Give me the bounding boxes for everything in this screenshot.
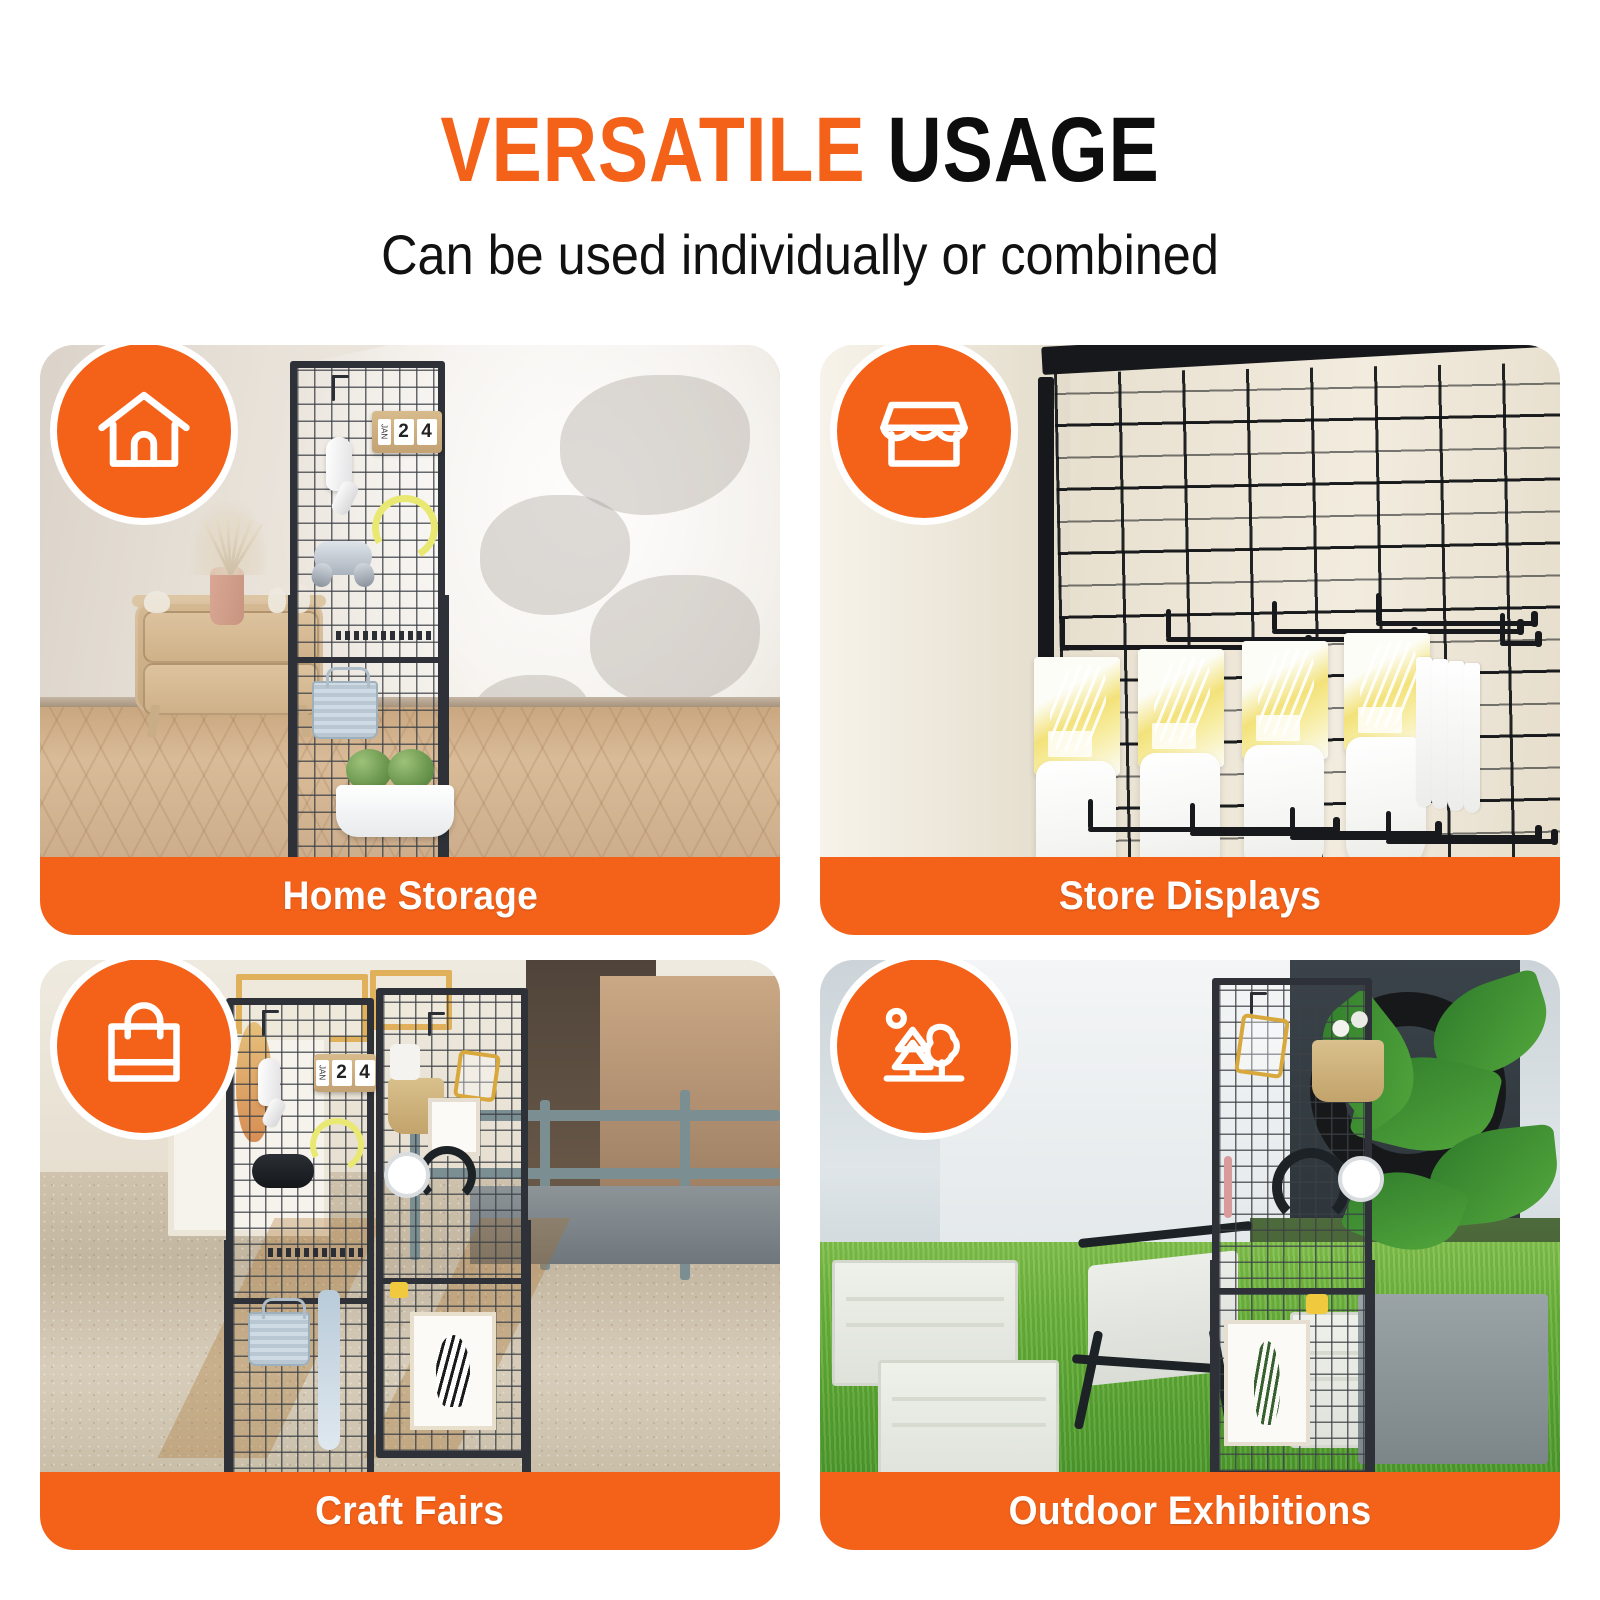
- calendar-day-tens: 2: [332, 1060, 352, 1086]
- planter-box: [336, 785, 454, 837]
- calendar-day-ones: 4: [355, 1060, 375, 1086]
- zebra-art-print: [410, 1312, 496, 1430]
- caption-label: Store Displays: [1059, 874, 1321, 919]
- badge-craft: [50, 960, 238, 1140]
- storefront-icon: [872, 379, 976, 483]
- flip-calendar: JAN 2 4: [314, 1054, 376, 1092]
- tag-yellow: [1306, 1294, 1328, 1314]
- woven-basket: [1312, 1040, 1384, 1102]
- flip-calendar: JAN 2 4: [372, 411, 442, 453]
- rack-leg-right: [440, 595, 449, 885]
- sock-stack: [1448, 661, 1464, 811]
- concrete-planter: [1358, 1294, 1548, 1464]
- title-highlight: VERSATILE: [440, 99, 865, 201]
- calendar-day-tens: 2: [394, 419, 414, 445]
- waterfall-hook: [1500, 641, 1540, 646]
- caption-label: Craft Fairs: [315, 1489, 504, 1534]
- page-title: VERSATILE USAGE: [144, 104, 1456, 196]
- badge-home: [50, 345, 238, 525]
- caption-store-displays: Store Displays: [820, 857, 1560, 935]
- flower-vase: [390, 1044, 420, 1080]
- headphones: [1272, 1148, 1350, 1226]
- zebra-illustration: [436, 1335, 470, 1407]
- desk-clock: [384, 1152, 430, 1198]
- calendar-month: JAN: [316, 1060, 329, 1086]
- grid-crossbar: [1212, 1288, 1372, 1294]
- hanging-lantern: [453, 1049, 501, 1102]
- grid-hook: [332, 375, 335, 401]
- sock-stack: [1464, 663, 1480, 813]
- caption-label: Home Storage: [282, 874, 538, 919]
- calendar-month: JAN: [378, 419, 391, 445]
- shopping-bag-icon: [92, 994, 196, 1098]
- rack-leg-left: [288, 595, 297, 895]
- park-trees-icon: [872, 994, 976, 1098]
- panel-craft-fairs[interactable]: JAN 2 4: [40, 960, 780, 1550]
- panel-outdoor-exhibitions[interactable]: Outdoor Exhibitions: [820, 960, 1560, 1550]
- hook-strip: [268, 1248, 364, 1257]
- panel-store-displays[interactable]: Store Displays: [820, 345, 1560, 935]
- rack-leg-right: [522, 1220, 531, 1490]
- game-controller: [252, 1154, 314, 1188]
- grid-hook: [428, 1012, 431, 1036]
- hanging-basket: [248, 1312, 310, 1366]
- sock-stack: [1416, 657, 1432, 807]
- badge-outdoor: [830, 960, 1018, 1140]
- home-icon: [92, 379, 196, 483]
- waterfall-hook: [1386, 839, 1556, 844]
- flowers: [1316, 1002, 1378, 1046]
- page-subtitle: Can be used individually or combined: [80, 222, 1520, 287]
- fern-art-print: [1224, 1320, 1310, 1446]
- waterfall-hook: [1376, 621, 1536, 626]
- umbrella: [318, 1290, 340, 1450]
- usage-panel-grid: JAN 2 4 Home Storage: [40, 345, 1560, 1550]
- hanging-basket: [312, 681, 378, 739]
- grid-hook: [1250, 992, 1253, 1014]
- sock-stack: [1432, 659, 1448, 809]
- decor-object: [144, 591, 170, 613]
- pampas-grass: [190, 501, 268, 575]
- badge-store: [830, 345, 1018, 525]
- tag-yellow: [390, 1282, 408, 1298]
- hair-dryer: [252, 1058, 308, 1138]
- grid-hook: [262, 1010, 265, 1036]
- hanging-lantern: [1234, 1013, 1290, 1079]
- decor-object: [268, 587, 286, 613]
- rack-leg-right: [1366, 1260, 1375, 1490]
- hook-strip: [336, 631, 434, 640]
- desk-clock: [1338, 1156, 1384, 1202]
- caption-home-storage: Home Storage: [40, 857, 780, 935]
- game-controller: [314, 541, 372, 575]
- caption-label: Outdoor Exhibitions: [1009, 1489, 1372, 1534]
- fern-illustration: [1254, 1341, 1280, 1425]
- caption-craft-fairs: Craft Fairs: [40, 1472, 780, 1550]
- wooden-crate: [878, 1360, 1059, 1486]
- sock-package: [1242, 641, 1328, 891]
- panel-home-storage[interactable]: JAN 2 4 Home Storage: [40, 345, 780, 935]
- vase: [210, 567, 244, 625]
- hair-dryer: [318, 437, 378, 521]
- header: VERSATILE USAGE Can be used individually…: [0, 0, 1600, 287]
- caption-outdoor-exhibitions: Outdoor Exhibitions: [820, 1472, 1560, 1550]
- hook-tool: [1224, 1156, 1232, 1218]
- title-rest: USAGE: [887, 99, 1159, 201]
- calendar-day-ones: 4: [417, 419, 437, 445]
- grid-crossbar: [290, 657, 445, 663]
